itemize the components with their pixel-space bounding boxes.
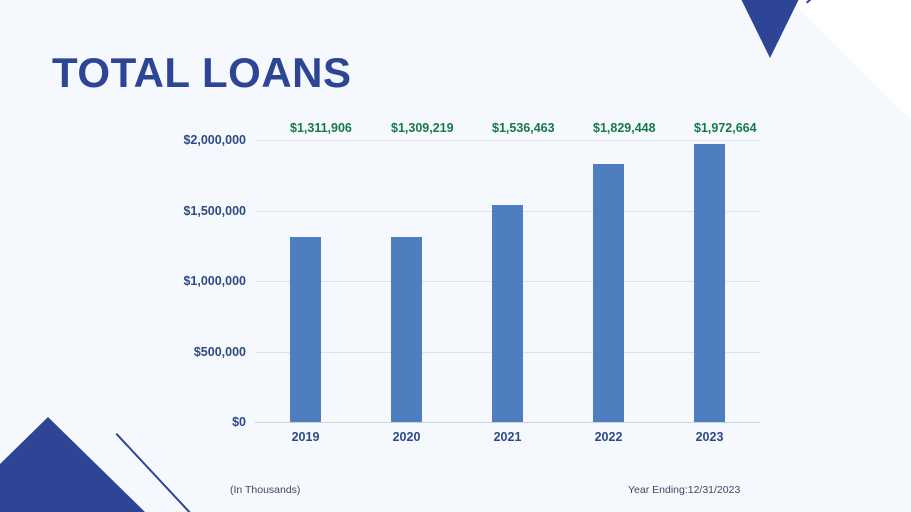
bar-value-label-2021: $1,536,463 bbox=[492, 121, 555, 135]
x-axis-label-2022: 2022 bbox=[558, 430, 659, 444]
gridline: $0 bbox=[255, 422, 760, 423]
bar-group-2020[interactable]: $1,309,219 bbox=[356, 140, 457, 422]
bar-value-label-2020: $1,309,219 bbox=[391, 121, 454, 135]
x-axis-label-2021: 2021 bbox=[457, 430, 558, 444]
bar-2022[interactable]: $1,829,448 bbox=[593, 164, 624, 422]
bar-value-label-2023: $1,972,664 bbox=[694, 121, 757, 135]
footnote-units: (In Thousands) bbox=[230, 484, 300, 496]
y-axis-tick-label: $0 bbox=[232, 415, 246, 429]
chart-x-axis-labels: 20192020202120222023 bbox=[255, 430, 760, 444]
bar-2021[interactable]: $1,536,463 bbox=[492, 205, 523, 422]
y-axis-tick-label: $1,000,000 bbox=[183, 274, 246, 288]
bar-2020[interactable]: $1,309,219 bbox=[391, 237, 422, 422]
slide-canvas: TOTAL LOANS $0$500,000$1,000,000$1,500,0… bbox=[0, 0, 911, 512]
bar-2023[interactable]: $1,972,664 bbox=[694, 144, 725, 422]
y-axis-tick-label: $2,000,000 bbox=[183, 133, 246, 147]
y-axis-tick-label: $500,000 bbox=[194, 345, 246, 359]
bar-value-label-2019: $1,311,906 bbox=[290, 121, 352, 135]
bar-value-label-2022: $1,829,448 bbox=[593, 121, 656, 135]
x-axis-label-2020: 2020 bbox=[356, 430, 457, 444]
bar-group-2019[interactable]: $1,311,906 bbox=[255, 140, 356, 422]
bar-chart: $0$500,000$1,000,000$1,500,000$2,000,000… bbox=[150, 128, 770, 448]
decorative-triangle-bottom-left bbox=[0, 417, 146, 512]
x-axis-label-2023: 2023 bbox=[659, 430, 760, 444]
page-title: TOTAL LOANS bbox=[52, 52, 352, 94]
bar-group-2022[interactable]: $1,829,448 bbox=[558, 140, 659, 422]
chart-bars: $1,311,906$1,309,219$1,536,463$1,829,448… bbox=[255, 140, 760, 422]
x-axis-label-2019: 2019 bbox=[255, 430, 356, 444]
y-axis-tick-label: $1,500,000 bbox=[183, 204, 246, 218]
bar-group-2023[interactable]: $1,972,664 bbox=[659, 140, 760, 422]
footnote-year-ending: Year Ending:12/31/2023 bbox=[628, 484, 740, 496]
decorative-triangle-top-right bbox=[712, 0, 828, 58]
bar-group-2021[interactable]: $1,536,463 bbox=[457, 140, 558, 422]
chart-plot-area: $0$500,000$1,000,000$1,500,000$2,000,000… bbox=[255, 140, 760, 422]
bar-2019[interactable]: $1,311,906 bbox=[290, 237, 321, 422]
